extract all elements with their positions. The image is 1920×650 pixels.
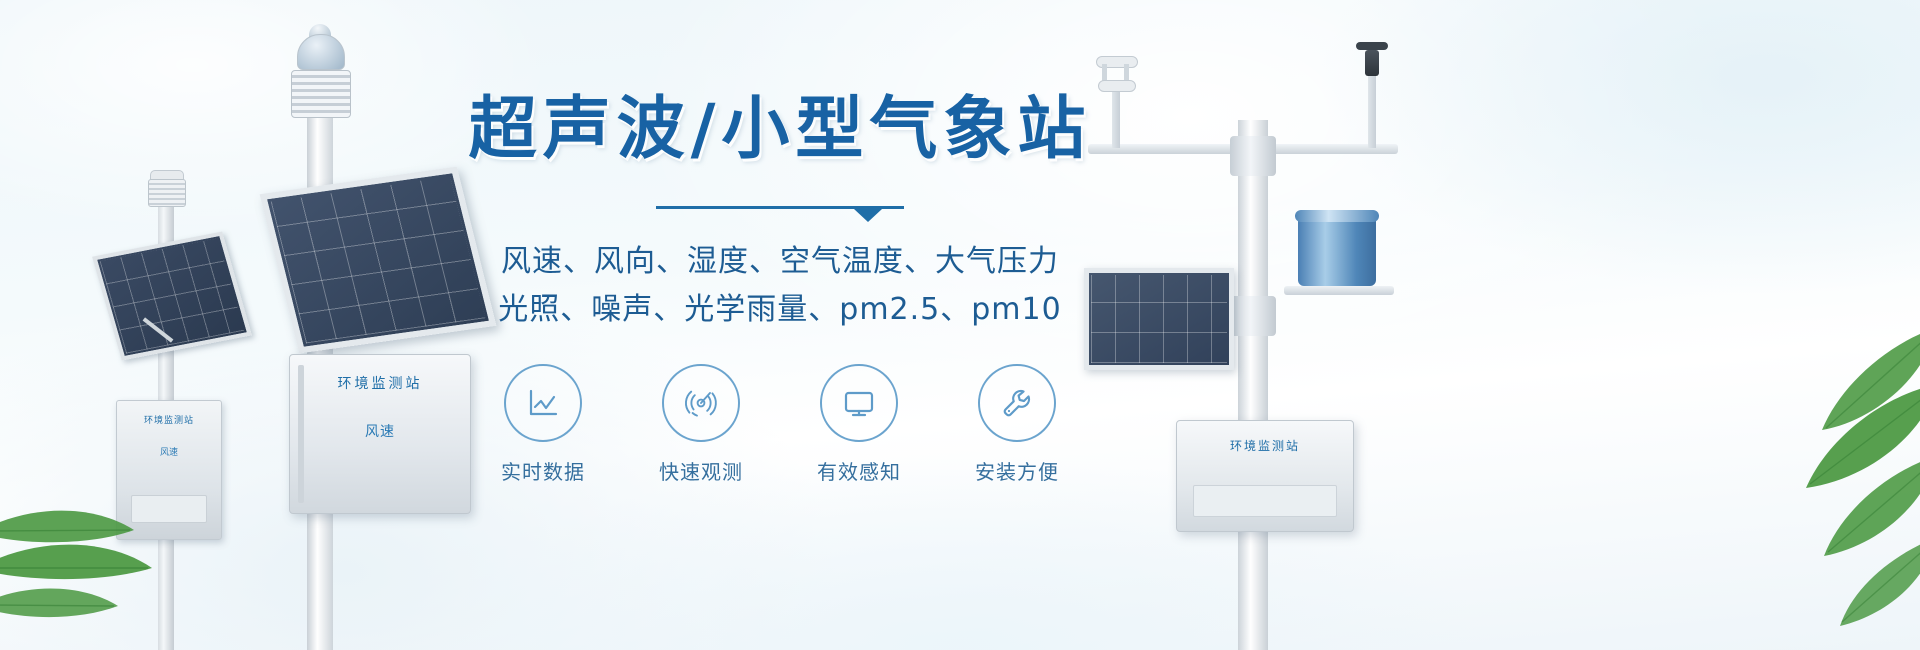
weather-station-right: 环境监测站	[1080, 40, 1440, 650]
feature-item-easy-install[interactable]: 安装方便	[951, 364, 1083, 485]
wind-vane-sensor-icon	[1352, 40, 1392, 80]
feature-item-fast-observation[interactable]: 快速观测	[635, 364, 767, 485]
mast-collar	[1230, 296, 1276, 336]
sensor-drop-rod	[1112, 90, 1120, 148]
solar-panel	[1084, 268, 1234, 370]
leaf-decoration-left	[0, 330, 210, 650]
feature-label: 快速观测	[659, 456, 743, 485]
wrench-icon	[978, 364, 1056, 442]
page-title: 超声波/小型气象站	[430, 96, 1130, 164]
radiation-dome-sensor-icon	[297, 34, 345, 70]
equipment-cabinet: 环境监测站	[1176, 420, 1354, 532]
cabinet-vent	[1193, 485, 1337, 517]
product-banner: 环境监测站 风速 环境监测站 风速 超声波/小型气象站 风速、风向、湿度、空气温…	[0, 0, 1920, 650]
cabinet-nameplate: 环境监测站	[1177, 437, 1353, 454]
subtitle-line-1: 风速、风向、湿度、空气温度、大气压力	[430, 238, 1130, 286]
subtitle-line-2: 光照、噪声、光学雨量、pm2.5、pm10	[430, 286, 1130, 334]
monitor-icon	[820, 364, 898, 442]
leaf-decoration-right	[1690, 290, 1920, 650]
feature-item-realtime-data[interactable]: 实时数据	[477, 364, 609, 485]
banner-content: 超声波/小型气象站 风速、风向、湿度、空气温度、大气压力 光照、噪声、光学雨量、…	[430, 96, 1130, 496]
mast-pole	[1238, 120, 1268, 650]
line-chart-icon	[504, 364, 582, 442]
feature-label: 安装方便	[975, 456, 1059, 485]
feature-item-effective-sensing[interactable]: 有效感知	[793, 364, 925, 485]
radar-scan-icon	[662, 364, 740, 442]
radiation-shield-icon	[291, 70, 351, 118]
feature-label: 实时数据	[501, 456, 585, 485]
feature-label: 有效感知	[817, 456, 901, 485]
divider	[656, 200, 904, 216]
chevron-down-icon	[854, 209, 882, 222]
rain-gauge-icon	[1298, 210, 1376, 294]
feature-list: 实时数据 快速观测	[430, 364, 1130, 485]
mast-collar	[1230, 136, 1276, 176]
temperature-humidity-sensor-icon	[144, 170, 188, 214]
cabinet-hinge	[298, 365, 304, 503]
ultrasonic-wind-sensor-icon	[1090, 56, 1142, 96]
